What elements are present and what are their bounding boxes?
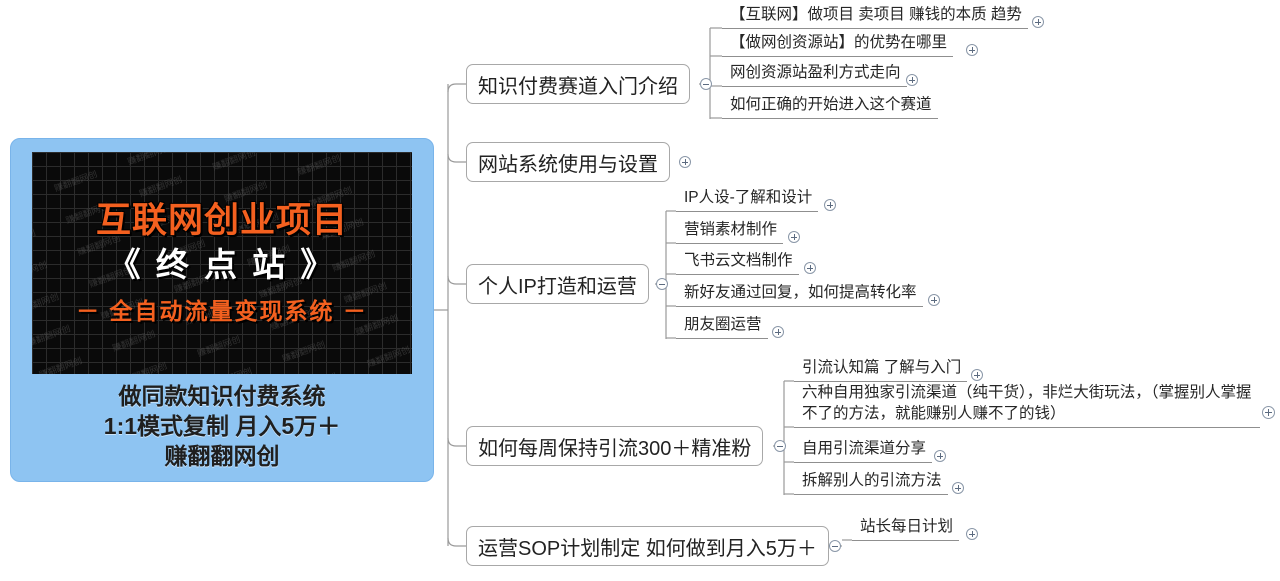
expand-toggle-leaf[interactable]: [1032, 16, 1044, 28]
branch-label: 运营SOP计划制定 如何做到月入5万＋: [478, 532, 817, 561]
leaf-node[interactable]: 【做网创资源站】的优势在哪里: [722, 34, 953, 57]
leaf-node[interactable]: 引流认知篇 了解与入门: [794, 359, 967, 382]
expand-toggle-leaf[interactable]: [928, 294, 940, 306]
leaf-label: 新好友通过回复，如何提高转化率: [684, 283, 917, 304]
branch-node-website-system[interactable]: 网站系统使用与设置: [466, 142, 670, 182]
leaf-node[interactable]: 拆解别人的引流方法: [794, 472, 948, 495]
leaf-label: 【互联网】做项目 卖项目 赚钱的本质 趋势: [730, 5, 1022, 26]
branch-label: 如何每周保持引流300＋精准粉: [478, 432, 751, 461]
branch-label: 个人IP打造和运营: [478, 270, 637, 299]
leaf-label: 拆解别人的引流方法: [802, 471, 942, 492]
branch-label: 知识付费赛道入门介绍: [478, 70, 678, 99]
leaf-label: 网创资源站盈利方式走向: [730, 63, 901, 84]
leaf-label: 六种自用独家引流渠道（纯干货），非烂大街玩法，（掌握别人掌握不了的方法，就能赚别…: [802, 383, 1254, 425]
poster-title: 互联网创业项目: [32, 201, 412, 240]
leaf-label: 如何正确的开始进入这个赛道: [730, 95, 932, 116]
leaf-node[interactable]: 站长每日计划: [852, 518, 959, 541]
leaf-node[interactable]: 【互联网】做项目 卖项目 赚钱的本质 趋势: [722, 6, 1028, 29]
leaf-node[interactable]: 如何正确的开始进入这个赛道: [722, 96, 938, 119]
expand-toggle-leaf[interactable]: [788, 231, 800, 243]
branch-node-personal-ip[interactable]: 个人IP打造和运营: [466, 264, 649, 304]
central-caption-line-3: 赚翻翻网创: [104, 442, 340, 472]
expand-toggle-leaf[interactable]: [906, 74, 918, 86]
expand-toggle-branch-2[interactable]: [679, 156, 691, 168]
branch-node-operation-sop[interactable]: 运营SOP计划制定 如何做到月入5万＋: [466, 526, 829, 566]
expand-toggle-leaf[interactable]: [952, 482, 964, 494]
leaf-label: IP人设-了解和设计: [684, 188, 812, 209]
expand-toggle-leaf[interactable]: [1262, 406, 1275, 419]
poster-subtitle: 《 终 点 站 》: [32, 246, 412, 284]
expand-toggle-leaf[interactable]: [966, 528, 978, 540]
collapse-toggle-branch-5[interactable]: [829, 540, 841, 552]
branch-node-weekly-traffic[interactable]: 如何每周保持引流300＋精准粉: [466, 426, 763, 466]
central-poster-image: 赚翻翻网创 赚翻翻网创 赚翻翻网创 赚翻翻网创 赚翻翻网创 赚翻翻网创 赚翻翻网…: [32, 152, 412, 374]
central-caption-line-1: 做同款知识付费系统: [104, 382, 340, 412]
central-node[interactable]: 赚翻翻网创 赚翻翻网创 赚翻翻网创 赚翻翻网创 赚翻翻网创 赚翻翻网创 赚翻翻网…: [10, 138, 434, 482]
expand-toggle-leaf[interactable]: [934, 450, 946, 462]
leaf-label: 引流认知篇 了解与入门: [802, 358, 961, 379]
branch-node-knowledge-intro[interactable]: 知识付费赛道入门介绍: [466, 64, 690, 104]
leaf-node[interactable]: 营销素材制作: [676, 221, 783, 244]
collapse-toggle-branch-4[interactable]: [774, 440, 786, 452]
expand-toggle-leaf[interactable]: [824, 199, 836, 211]
collapse-toggle-branch-3[interactable]: [656, 278, 668, 290]
expand-toggle-leaf[interactable]: [772, 326, 784, 338]
leaf-label: 朋友圈运营: [684, 315, 762, 336]
poster-tagline: － 全自动流量变现系统 －: [32, 298, 412, 324]
expand-toggle-leaf[interactable]: [971, 369, 983, 381]
leaf-label: 自用引流渠道分享: [802, 439, 926, 460]
central-caption: 做同款知识付费系统 1:1模式复制 月入5万＋ 赚翻翻网创: [104, 382, 340, 472]
leaf-node[interactable]: 六种自用独家引流渠道（纯干货），非烂大街玩法，（掌握别人掌握不了的方法，就能赚别…: [794, 391, 1260, 428]
expand-toggle-leaf[interactable]: [804, 262, 816, 274]
leaf-label: 营销素材制作: [684, 220, 777, 241]
leaf-label: 站长每日计划: [860, 517, 953, 538]
central-caption-line-2: 1:1模式复制 月入5万＋: [104, 412, 340, 442]
leaf-node[interactable]: 飞书云文档制作: [676, 252, 799, 275]
leaf-node[interactable]: 自用引流渠道分享: [794, 440, 932, 463]
leaf-node[interactable]: 新好友通过回复，如何提高转化率: [676, 284, 923, 307]
expand-toggle-leaf[interactable]: [966, 44, 978, 56]
leaf-node[interactable]: IP人设-了解和设计: [676, 189, 818, 212]
leaf-label: 飞书云文档制作: [684, 251, 793, 272]
leaf-label: 【做网创资源站】的优势在哪里: [730, 33, 947, 54]
branch-label: 网站系统使用与设置: [478, 148, 658, 177]
mindmap-canvas: 赚翻翻网创 赚翻翻网创 赚翻翻网创 赚翻翻网创 赚翻翻网创 赚翻翻网创 赚翻翻网…: [0, 0, 1280, 581]
collapse-toggle-branch-1[interactable]: [700, 78, 712, 90]
leaf-node[interactable]: 网创资源站盈利方式走向: [722, 64, 907, 87]
leaf-node[interactable]: 朋友圈运营: [676, 316, 768, 339]
